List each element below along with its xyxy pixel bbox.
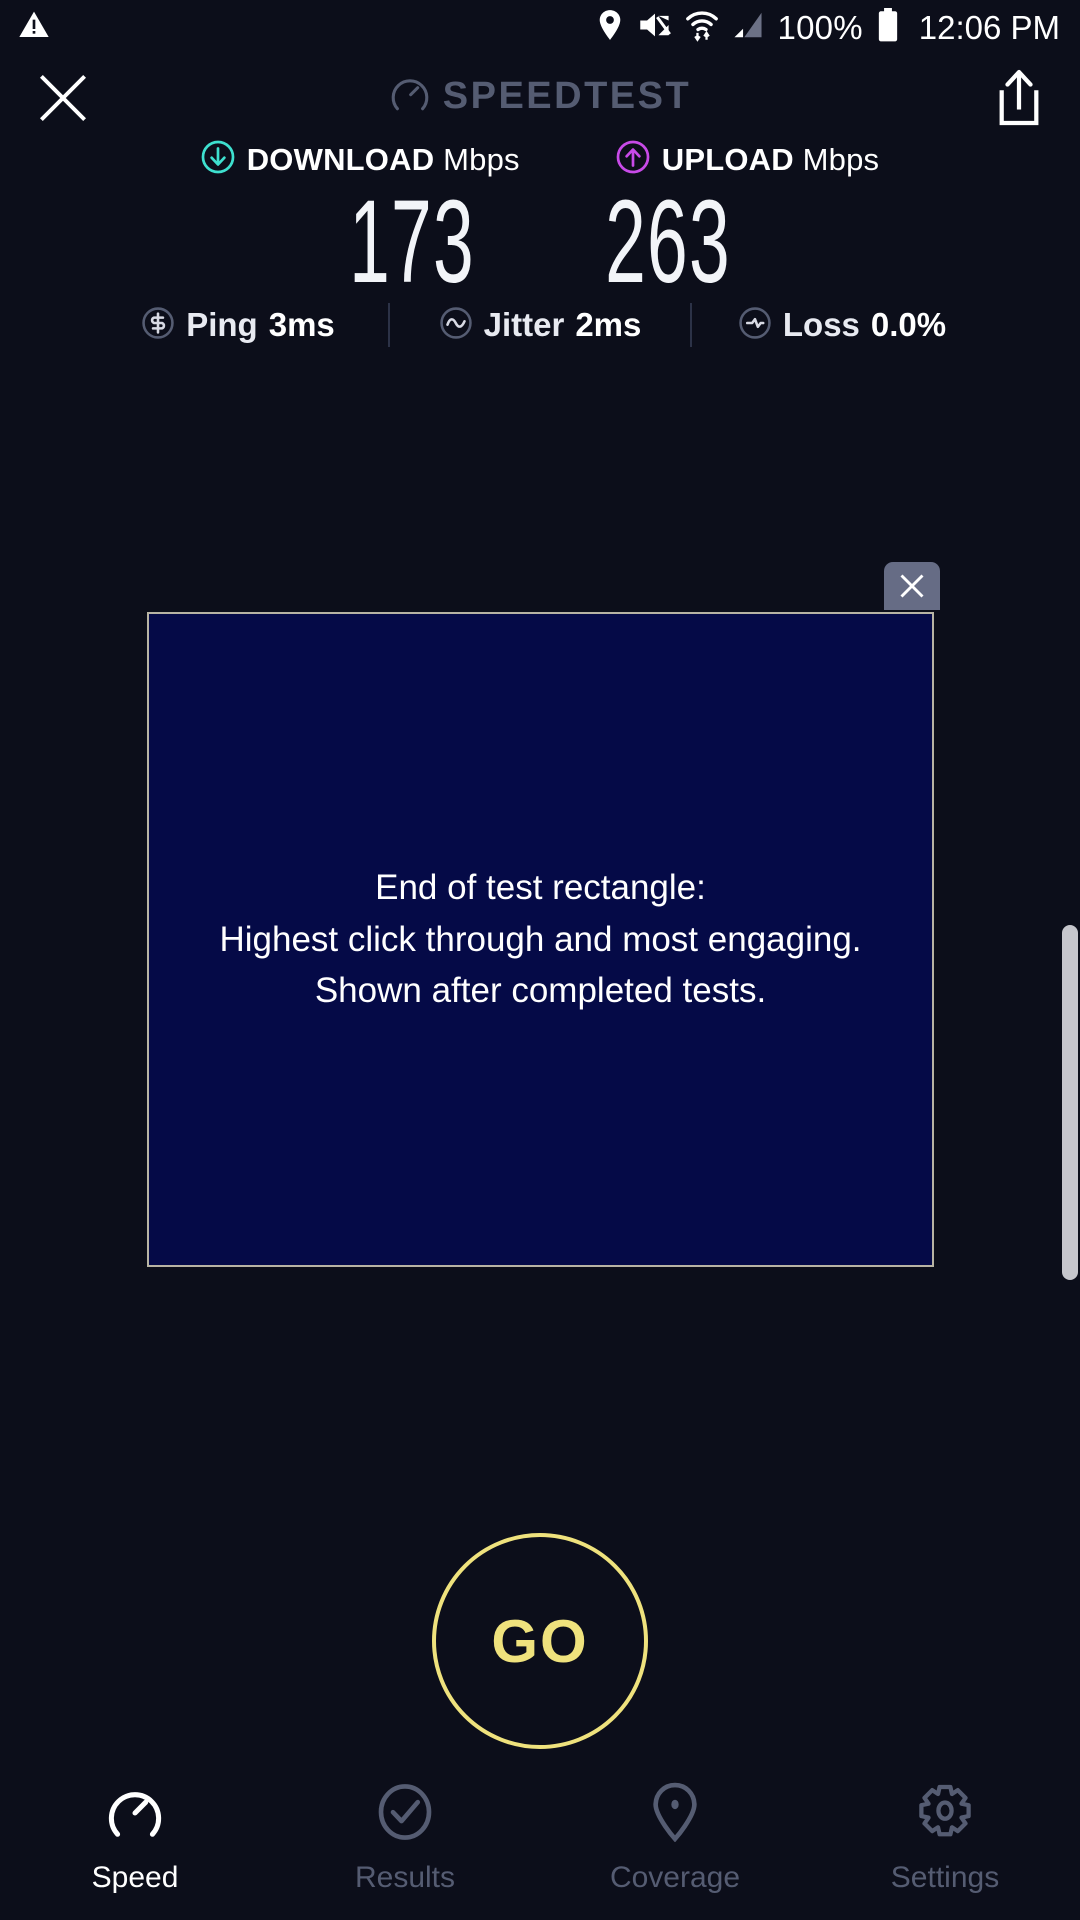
results-panel: DOWNLOAD Mbps UPLOAD Mbps 173 263 (0, 140, 1080, 305)
location-pin-icon (644, 1782, 706, 1847)
nav-label-settings: Settings (891, 1861, 999, 1895)
nav-item-results[interactable]: Results (270, 1760, 540, 1895)
status-bar-clock: 12:06 PM (919, 9, 1060, 47)
jitter-label: Jitter (484, 306, 565, 344)
loss-icon (738, 306, 772, 345)
bottom-navigation: Speed Results Coverage Settings (0, 1760, 1080, 1920)
status-bar-left (0, 9, 50, 46)
ad-line-3: Shown after completed tests. (219, 965, 861, 1017)
ping-label: Ping (186, 306, 258, 344)
jitter-value: 2ms (575, 306, 641, 344)
nav-label-results: Results (355, 1861, 455, 1895)
ad-text: End of test rectangle: Highest click thr… (219, 862, 861, 1017)
upload-header: UPLOAD Mbps (616, 140, 880, 179)
battery-full-icon (877, 8, 899, 47)
nav-item-speed[interactable]: Speed (0, 1760, 270, 1895)
speedometer-icon (389, 73, 431, 120)
ad-close-button[interactable] (884, 562, 940, 610)
nav-label-coverage: Coverage (610, 1861, 740, 1895)
cell-signal-icon (732, 10, 764, 45)
go-button[interactable]: GO (432, 1533, 648, 1749)
status-bar-right: 100% 12:06 PM (596, 8, 1080, 47)
download-header: DOWNLOAD Mbps (201, 140, 520, 179)
nav-item-coverage[interactable]: Coverage (540, 1760, 810, 1895)
ping-stat: Ping 3ms (88, 306, 388, 345)
brand-title: SPEEDTEST (443, 75, 691, 118)
status-bar: 100% 12:06 PM (0, 0, 1080, 55)
upload-label: UPLOAD Mbps (662, 142, 880, 178)
substats-row: Ping 3ms Jitter 2ms Loss 0.0% (0, 300, 1080, 350)
location-pin-icon (596, 9, 624, 46)
app-header: SPEEDTEST (0, 55, 1080, 135)
ping-icon (141, 306, 175, 345)
gear-icon (914, 1782, 976, 1847)
loss-label: Loss (783, 306, 860, 344)
metric-values: 173 263 (0, 181, 1080, 305)
jitter-icon (439, 306, 473, 345)
ad-line-2: Highest click through and most engaging. (219, 914, 861, 966)
download-label: DOWNLOAD Mbps (247, 142, 520, 178)
metric-headers: DOWNLOAD Mbps UPLOAD Mbps (0, 140, 1080, 179)
speedometer-icon (104, 1782, 166, 1847)
check-circle-icon (374, 1782, 436, 1847)
nav-item-settings[interactable]: Settings (810, 1760, 1080, 1895)
scrollbar-thumb[interactable] (1062, 925, 1078, 1280)
loss-value: 0.0% (871, 306, 946, 344)
jitter-stat: Jitter 2ms (390, 306, 690, 345)
ad-line-1: End of test rectangle: (219, 862, 861, 914)
battery-percent: 100% (778, 11, 863, 44)
upload-value: 263 (513, 181, 823, 305)
brand-logo: SPEEDTEST (0, 73, 1080, 120)
warning-triangle-icon (18, 9, 50, 46)
go-button-label: GO (491, 1607, 588, 1676)
nav-label-speed: Speed (92, 1861, 179, 1895)
share-button[interactable] (994, 69, 1044, 127)
ping-value: 3ms (269, 306, 335, 344)
wifi-icon (686, 8, 718, 47)
loss-stat: Loss 0.0% (692, 306, 992, 345)
advertisement-banner[interactable]: End of test rectangle: Highest click thr… (147, 612, 934, 1267)
arrow-up-circle-icon (616, 140, 650, 179)
mute-icon (638, 10, 672, 45)
arrow-down-circle-icon (201, 140, 235, 179)
